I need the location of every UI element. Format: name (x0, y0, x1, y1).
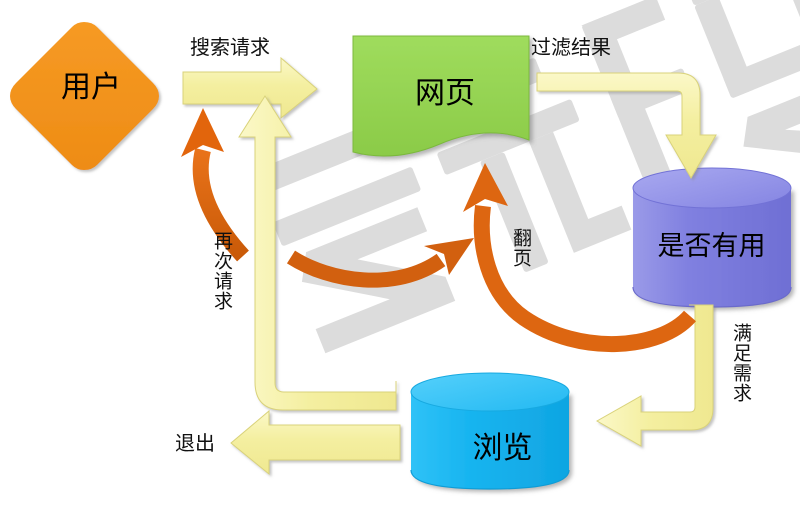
node-label-user: 用户 (36, 62, 146, 106)
node-label-browse: 浏览 (425, 423, 580, 467)
node-label-useful: 是否有用 (634, 224, 789, 263)
edge-label-filter-result: 过滤结果 (531, 31, 611, 60)
edge-label-page-flip: 翻页 (508, 228, 535, 268)
node-label-webpage: 网页 (370, 68, 520, 112)
edge-label-request-again: 再次请求 (209, 231, 236, 311)
edge-label-satisfy-need: 满足需求 (728, 323, 755, 403)
label-layer: 用户 网页 是否有用 浏览 搜索请求 过滤结果 满足需求 退出 再次请求 翻页 (0, 0, 800, 510)
diagram-canvas: 用户 网页 是否有用 浏览 搜索请求 过滤结果 满足需求 退出 再次请求 翻页 (0, 0, 800, 510)
edge-label-search-request: 搜索请求 (190, 31, 270, 60)
edge-label-exit: 退出 (175, 427, 215, 456)
